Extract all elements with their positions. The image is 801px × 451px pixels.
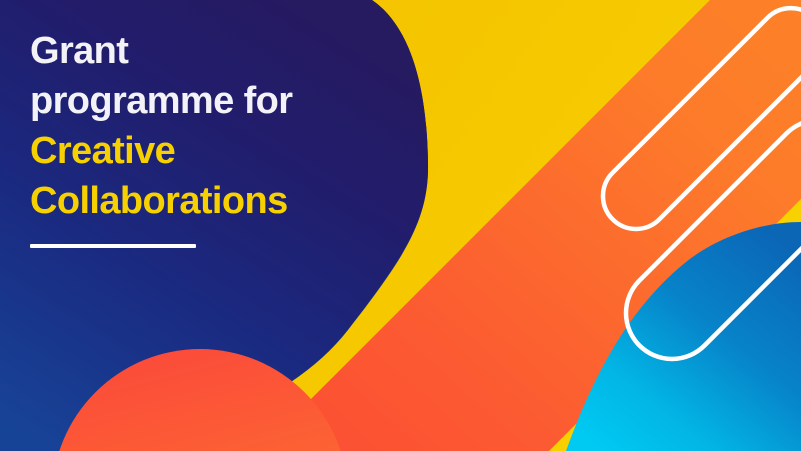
headline-line-2: programme for [30, 76, 410, 126]
poster-canvas: Grant programme for Creative Collaborati… [0, 0, 801, 451]
headline-block: Grant programme for Creative Collaborati… [30, 26, 410, 248]
title-underline-rule [30, 244, 196, 248]
headline-line-4: Collaborations [30, 176, 410, 226]
headline-line-1: Grant [30, 26, 410, 76]
headline-line-3: Creative [30, 126, 410, 176]
page-title: Grant programme for Creative Collaborati… [30, 26, 410, 226]
